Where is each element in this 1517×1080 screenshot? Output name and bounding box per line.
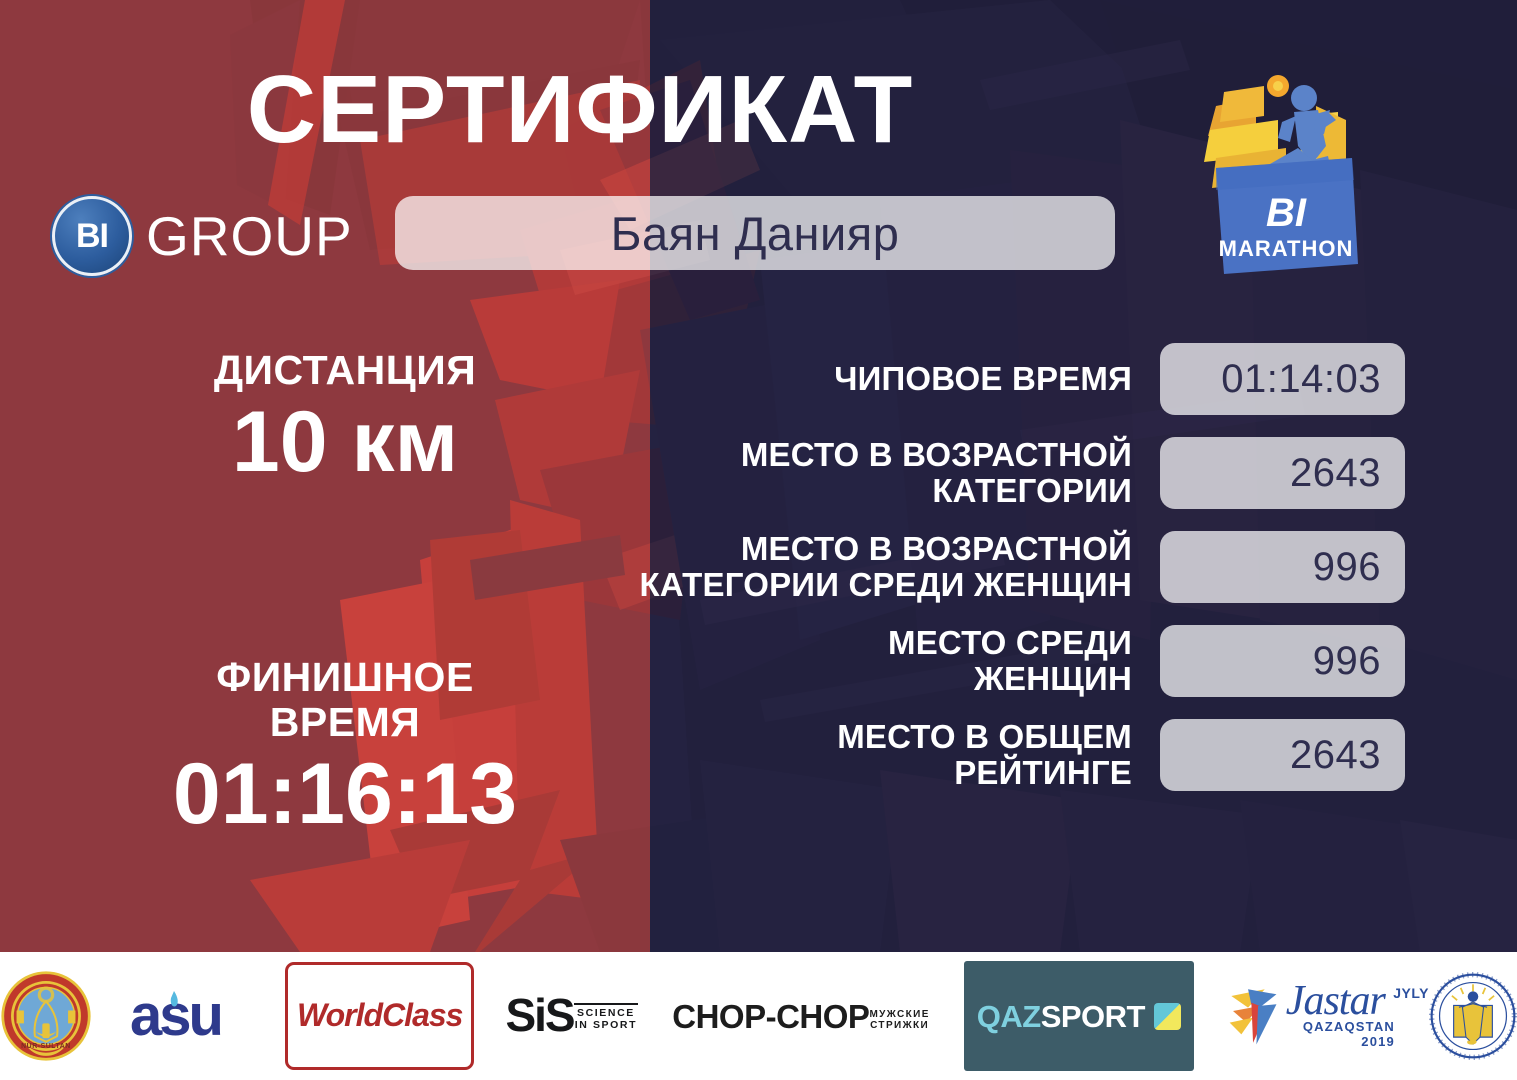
svg-text:NUR-SULTAN: NUR-SULTAN [21,1043,71,1050]
qazsport-text: QAZSPORT [977,1001,1145,1032]
jastar-arrow-icon [1228,980,1280,1052]
jastar-jyly-text: JYLY [1393,985,1429,1001]
sponsor-sis: SiS SCIENCE IN SPORT [505,970,638,1062]
stat-label-line2: КАТЕГОРИИ [505,473,1132,509]
stat-value: 996 [1313,639,1381,684]
jastar-sub-text: QAZAQSTAN 2019 [1286,1019,1395,1049]
stat-value-pill: 01:14:03 [1160,343,1405,415]
stat-value-pill: 996 [1160,531,1405,603]
sponsor-chop-chop: CHOP-CHOP МУЖСКИЕ СТРИЖКИ [672,970,930,1062]
stat-row-among-women: МЕСТО СРЕДИ ЖЕНЩИН 996 [505,625,1405,697]
sponsor-nur-sultan: NUR-SULTAN NUR-SULTAN [0,970,92,1062]
qazsport-square-icon [1154,1003,1181,1030]
sis-sub-text: SCIENCE IN SPORT [574,1003,639,1031]
world-class-word1: World [297,997,382,1033]
stat-row-overall: МЕСТО В ОБЩЕМ РЕЙТИНГЕ 2643 [505,719,1405,791]
nur-sultan-emblem-icon: NUR-SULTAN [0,970,92,1062]
stat-label: МЕСТО СРЕДИ ЖЕНЩИН [505,625,1160,696]
page-title: СЕРТИФИКАТ [0,62,1160,158]
chop-sub-text: МУЖСКИЕ СТРИЖКИ [869,1009,929,1031]
participant-name-banner: Баян Данияр [395,196,1115,270]
stat-row-chip-time: ЧИПОВОЕ ВРЕМЯ 01:14:03 [505,343,1405,415]
stat-row-age-category: МЕСТО В ВОЗРАСТНОЙ КАТЕГОРИИ 2643 [505,437,1405,509]
qazsport-sport: SPORT [1041,999,1145,1034]
sis-main-text: SiS [505,996,573,1035]
sponsor-jastar-jyly: Jastar JYLY QAZAQSTAN 2019 [1228,970,1395,1062]
sponsor-asu: asu asu [126,970,254,1062]
participant-name: Баян Данияр [611,206,900,261]
sponsor-footer: NUR-SULTAN NUR-SULTAN asu asu WorldClass… [0,952,1517,1080]
svg-text:BI: BI [1266,191,1307,235]
stat-row-age-category-women: МЕСТО В ВОЗРАСТНОЙ КАТЕГОРИИ СРЕДИ ЖЕНЩИ… [505,531,1405,603]
sponsor-world-class: WorldClass [288,965,471,1067]
stat-label-line2: РЕЙТИНГЕ [505,755,1132,791]
stat-label-line1: МЕСТО В ВОЗРАСТНОЙ [505,437,1132,473]
jastar-main-text: Jastar [1286,983,1395,1021]
stat-label-line2: ЖЕНЩИН [505,661,1132,697]
stat-label: ЧИПОВОЕ ВРЕМЯ [505,361,1160,397]
stat-label-line1: МЕСТО СРЕДИ [505,625,1132,661]
bi-group-logo: BI GROUP [52,196,353,276]
stat-value: 2643 [1290,451,1381,496]
stat-label-line1: МЕСТО В ОБЩЕМ [505,719,1132,755]
stat-label-line1: ЧИПОВОЕ ВРЕМЯ [505,361,1132,397]
stat-label: МЕСТО В ОБЩЕМ РЕЙТИНГЕ [505,719,1160,790]
asu-logo-icon: asu [126,985,254,1047]
stat-value-pill: 2643 [1160,719,1405,791]
stat-label-line1: МЕСТО В ВОЗРАСТНОЙ [505,531,1132,567]
ministry-emblem-icon [1429,972,1517,1060]
stat-value-pill: 996 [1160,625,1405,697]
bi-circle-icon: BI [52,196,132,276]
certificate-canvas: СЕРТИФИКАТ BI GROUP Баян Данияр [0,0,1517,1080]
sponsor-ministry: ҚАЗАҚСТАН РЕСПУБЛИКАСЫНЫҢ МӘДЕНИЕТ ЖӘНЕ … [1429,970,1517,1062]
stat-label: МЕСТО В ВОЗРАСТНОЙ КАТЕГОРИИ [505,437,1160,508]
chop-main-text: CHOP-CHOP [672,1000,869,1033]
qazsport-qaz: QAZ [977,999,1041,1034]
bi-marathon-emblem-icon: BI MARATHON [1186,68,1386,298]
bi-marathon-logo: BI MARATHON BI MARATHON [1186,68,1386,298]
stat-label: МЕСТО В ВОЗРАСТНОЙ КАТЕГОРИИ СРЕДИ ЖЕНЩИ… [505,531,1160,602]
bi-badge-text: BI [76,219,108,253]
bi-group-word: GROUP [146,209,353,264]
jastar-text-group: Jastar JYLY QAZAQSTAN 2019 [1286,983,1395,1049]
stat-value-pill: 2643 [1160,437,1405,509]
stat-label-line2: КАТЕГОРИИ СРЕДИ ЖЕНЩИН [505,567,1132,603]
stat-value: 01:14:03 [1221,357,1381,402]
stat-value: 2643 [1290,733,1381,778]
sponsor-qazsport: QAZSPORT [964,961,1194,1071]
svg-text:MARATHON: MARATHON [1219,236,1354,261]
world-class-text: WorldClass [297,999,462,1033]
stats-list: ЧИПОВОЕ ВРЕМЯ 01:14:03 МЕСТО В ВОЗРАСТНО… [505,343,1405,813]
world-class-word2: Class [382,997,462,1033]
stat-value: 996 [1313,545,1381,590]
